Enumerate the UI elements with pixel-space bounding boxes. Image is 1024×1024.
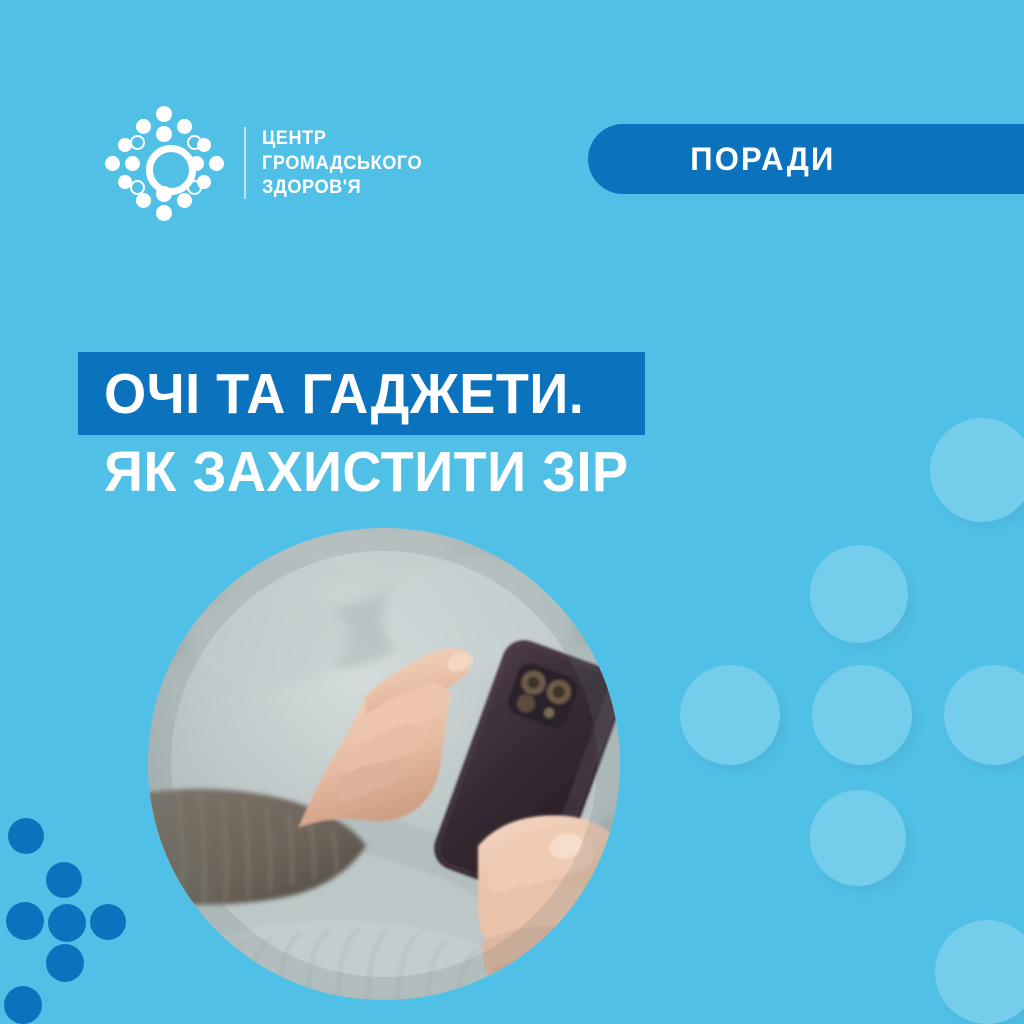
radial-dot-burst-icon xyxy=(104,104,226,222)
decorative-circle xyxy=(812,665,912,765)
decorative-circle xyxy=(935,920,1024,1024)
logo-wordmark: ЦЕНТР ГРОМАДСЬКОГО ЗДОРОВ'Я xyxy=(262,126,422,201)
headline-block: ОЧІ ТА ГАДЖЕТИ. ЯК ЗАХИСТИТИ ЗІР xyxy=(78,352,778,501)
poster-canvas: ЦЕНТР ГРОМАДСЬКОГО ЗДОРОВ'Я ПОРАДИ ОЧІ Т… xyxy=(0,0,1024,1024)
decorative-dot xyxy=(90,904,126,940)
logo-divider xyxy=(244,127,246,199)
category-badge[interactable]: ПОРАДИ xyxy=(588,124,1024,194)
decorative-dot xyxy=(46,944,84,982)
decorative-circle xyxy=(680,665,780,765)
decorative-dot xyxy=(6,902,44,940)
decorative-circle xyxy=(930,418,1024,522)
decorative-dot xyxy=(4,986,42,1024)
hands-holding-smartphone-photo xyxy=(148,528,620,1000)
headline-second-line-wrap: ЯК ЗАХИСТИТИ ЗІР xyxy=(78,435,778,501)
decorative-circle xyxy=(944,665,1024,765)
decorative-circle xyxy=(810,790,906,886)
decorative-dot xyxy=(48,904,86,942)
headline-line-1: ОЧІ ТА ГАДЖЕТИ. xyxy=(104,366,584,423)
logo-line-3: ЗДОРОВ'Я xyxy=(262,175,422,200)
logo-line-2: ГРОМАДСЬКОГО xyxy=(262,151,422,176)
headline-highlight-box: ОЧІ ТА ГАДЖЕТИ. xyxy=(78,352,645,435)
hero-photo-circle xyxy=(148,528,620,1000)
decorative-dot xyxy=(8,818,44,854)
decorative-circle xyxy=(810,545,908,643)
decorative-dot xyxy=(46,862,82,898)
organization-logo: ЦЕНТР ГРОМАДСЬКОГО ЗДОРОВ'Я xyxy=(104,104,464,222)
logo-line-1: ЦЕНТР xyxy=(262,126,422,151)
headline-line-2: ЯК ЗАХИСТИТИ ЗІР xyxy=(104,444,629,501)
category-badge-label: ПОРАДИ xyxy=(690,141,835,178)
